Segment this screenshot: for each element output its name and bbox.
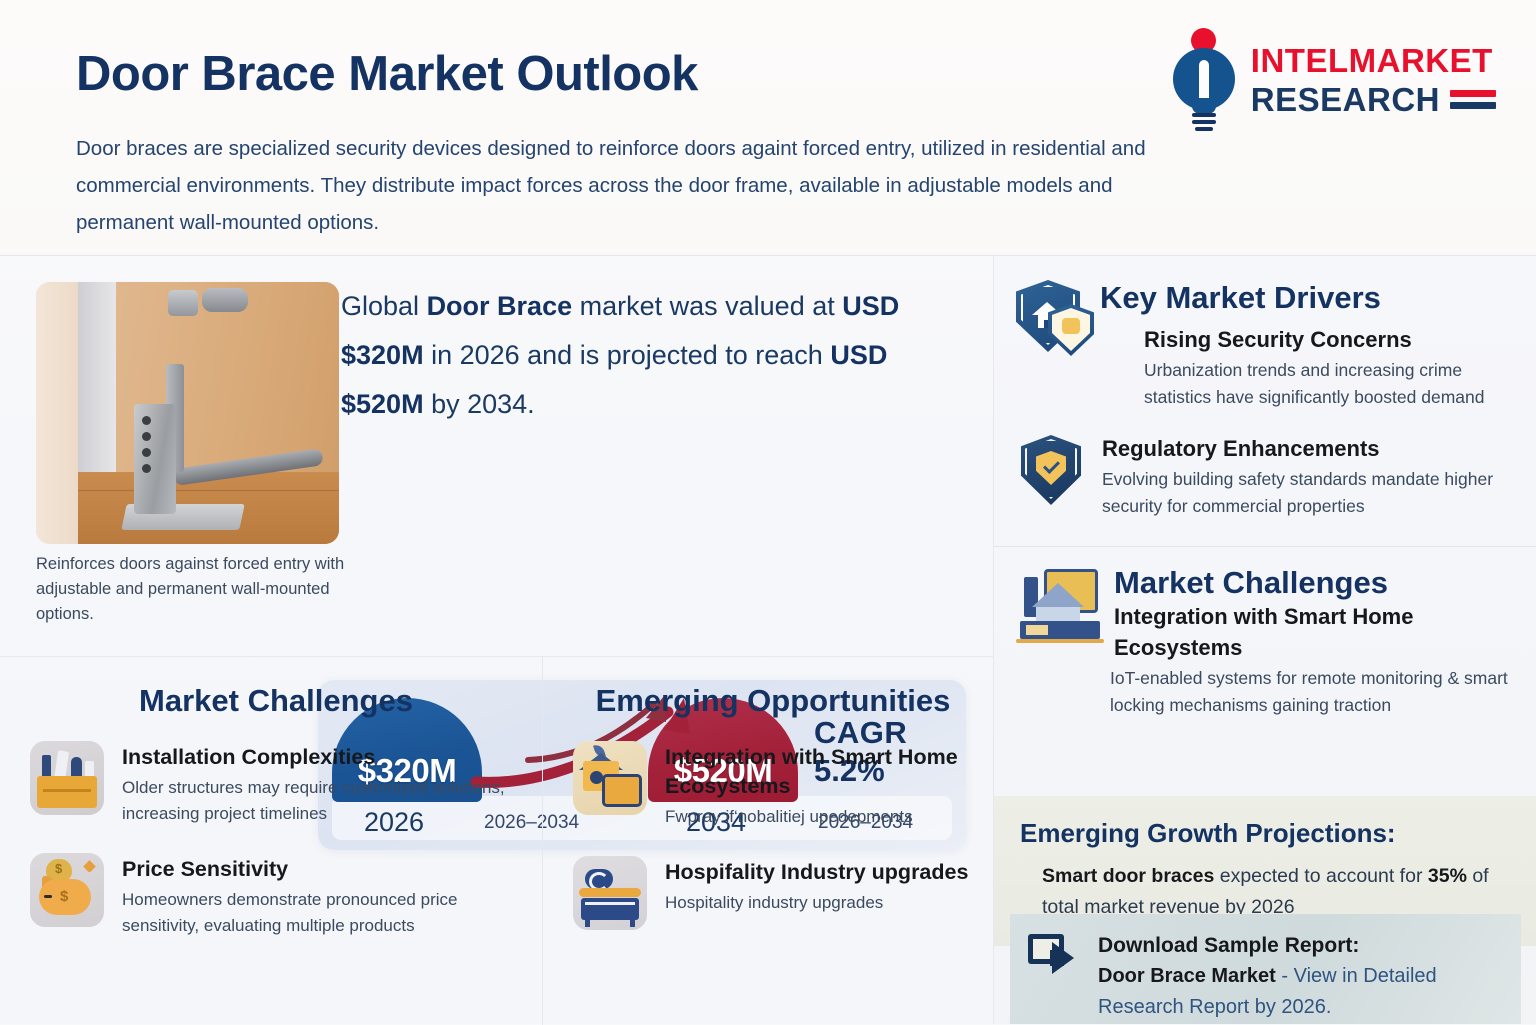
item-heading: Integration with Smart Home Ecosystems — [665, 743, 973, 801]
product-image — [36, 282, 339, 544]
item-body: Urbanization trends and increasing crime… — [1144, 357, 1514, 411]
bottom-panels: Market Challenges Installation Complexit… — [0, 656, 993, 1025]
headline-p4: by 2034. — [424, 389, 535, 419]
left-column: Reinforces doors against forced entry wi… — [0, 256, 993, 1024]
item-heading: Installation Complexities — [122, 743, 522, 772]
download-sample-report-cta[interactable]: Download Sample Report: Door Brace Marke… — [1010, 914, 1521, 1024]
item-heading: Integration with Smart Home Ecosystems — [1114, 601, 1514, 663]
challenge-item: Integration with Smart Home Ecosystems I… — [1114, 601, 1514, 719]
item-heading: Hospifality Industry upgrades — [665, 858, 973, 887]
piggy-bank-icon — [30, 853, 104, 927]
item-body: Fwpray if‘nobalitiej upedepments — [665, 804, 973, 830]
growth-bold-1: Smart door braces — [1042, 865, 1214, 887]
panel-title-opportunities: Emerging Opportunities — [573, 683, 973, 719]
logo-bars-icon — [1450, 90, 1496, 109]
section-market-challenges: Market Challenges Integration with Smart… — [994, 547, 1536, 719]
growth-title: Emerging Growth Projections: — [1020, 818, 1511, 849]
challenges-title: Market Challenges — [1114, 563, 1388, 603]
headline-b1: Door Brace — [427, 291, 573, 321]
page-title: Door Brace Market Outlook — [76, 46, 698, 102]
shield-check-icon — [1016, 433, 1090, 511]
list-item: Hospifality Industry upgrades Hospitalit… — [573, 856, 973, 930]
item-body: Homeowners demonstrate pronounced price … — [122, 887, 522, 939]
headline-p3: in 2026 and is projected to reach — [424, 340, 831, 370]
list-item: Installation Complexities Older structur… — [30, 741, 522, 827]
market-headline: Global Door Brace market was valued at U… — [341, 282, 941, 429]
panel-title-challenges: Market Challenges — [30, 683, 522, 719]
item-body: IoT-enabled systems for remote monitorin… — [1110, 665, 1514, 719]
item-heading: Regulatory Enhancements — [1102, 433, 1514, 464]
download-report-name: Door Brace Market — [1098, 965, 1276, 987]
driver-item-1: Rising Security Concerns Urbanization tr… — [1144, 324, 1514, 411]
header: Door Brace Market Outlook Door braces ar… — [0, 0, 1536, 256]
toolbox-icon — [30, 741, 104, 815]
drivers-title: Key Market Drivers — [1100, 278, 1381, 318]
headline-p2: market was valued at — [572, 291, 842, 321]
item-body: Evolving building safety standards manda… — [1102, 466, 1514, 520]
panel-market-challenges: Market Challenges Installation Complexit… — [0, 657, 543, 1025]
smart-building-icon — [1016, 563, 1104, 643]
list-item: Price Sensitivity Homeowners demonstrate… — [30, 853, 522, 939]
section-key-market-drivers: Key Market Drivers Rising Security Conce… — [994, 256, 1536, 520]
smart-home-icon — [573, 741, 647, 815]
item-body: Older structures may require customized … — [122, 775, 522, 827]
download-separator: - — [1276, 965, 1294, 987]
headline-p1: Global — [341, 291, 427, 321]
lightbulb-icon — [1171, 28, 1237, 132]
download-title: Download Sample Report: — [1098, 930, 1503, 961]
brand-logo[interactable]: INTELMARKET RESEARCH — [1171, 28, 1496, 132]
driver-item-2: Regulatory Enhancements Evolving buildin… — [1016, 433, 1514, 520]
download-line3: Research Report by 2026. — [1098, 992, 1503, 1023]
logo-line-bottom: RESEARCH — [1251, 83, 1440, 116]
item-heading: Price Sensitivity — [122, 855, 522, 884]
logo-wordmark: INTELMARKET RESEARCH — [1251, 44, 1496, 116]
logo-line-top: INTELMARKET — [1251, 44, 1496, 77]
download-arrow-icon — [1028, 930, 1084, 982]
download-subject: Door Brace Market - View in Detailed — [1098, 961, 1503, 992]
panel-emerging-opportunities: Emerging Opportunities Integration with … — [543, 657, 993, 1025]
hospitality-bed-icon — [573, 856, 647, 930]
product-caption: Reinforces doors against forced entry wi… — [36, 552, 346, 627]
growth-text-1: expected to account for — [1214, 865, 1428, 887]
item-heading: Rising Security Concerns — [1144, 324, 1514, 355]
list-item: Integration with Smart Home Ecosystems F… — [573, 741, 973, 830]
page-subtitle: Door braces are specialized security dev… — [76, 130, 1146, 241]
item-body: Hospitality industry upgrades — [665, 890, 973, 916]
infographic-page: Door Brace Market Outlook Door braces ar… — [0, 0, 1536, 1024]
growth-bold-2: 35% — [1428, 865, 1467, 887]
download-link[interactable]: View in Detailed — [1294, 965, 1437, 987]
right-column: Key Market Drivers Rising Security Conce… — [993, 256, 1536, 1024]
shield-home-icon — [1016, 278, 1090, 358]
